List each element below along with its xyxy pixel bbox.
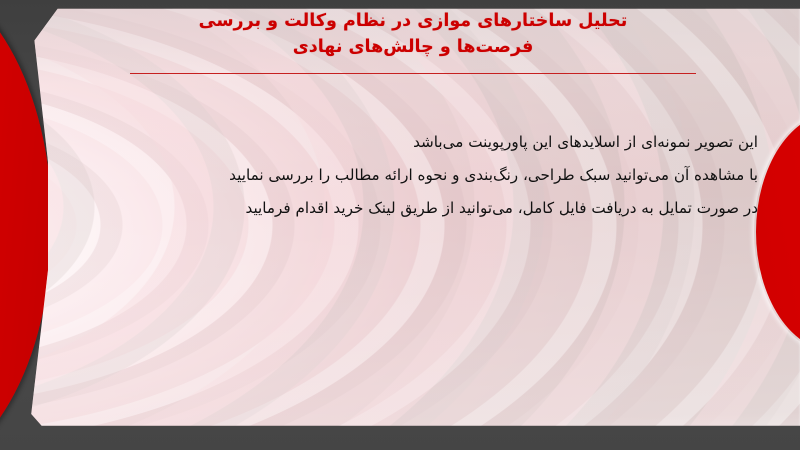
slide-body-line-2: با مشاهده آن می‌توانید سبک طراحی، رنگ‌بن…: [40, 159, 758, 192]
slide-title-line-2: فرصت‌ها و چالش‌های نهادی: [130, 34, 696, 60]
slide-body-line-1: این تصویر نمونه‌ای از اسلایدهای این پاور…: [40, 126, 758, 159]
slide-text-layer: تحلیل ساختارهای موازی در نظام وکالت و بر…: [0, 0, 800, 450]
slide-canvas: تحلیل ساختارهای موازی در نظام وکالت و بر…: [0, 0, 800, 450]
title-underline-rule: [130, 73, 696, 74]
slide-body-text: این تصویر نمونه‌ای از اسلایدهای این پاور…: [40, 126, 758, 225]
slide-title-line-1: تحلیل ساختارهای موازی در نظام وکالت و بر…: [130, 8, 696, 34]
slide-body-line-3: در صورت تمایل به دریافت فایل کامل، می‌تو…: [40, 192, 758, 225]
slide-title: تحلیل ساختارهای موازی در نظام وکالت و بر…: [130, 8, 696, 60]
